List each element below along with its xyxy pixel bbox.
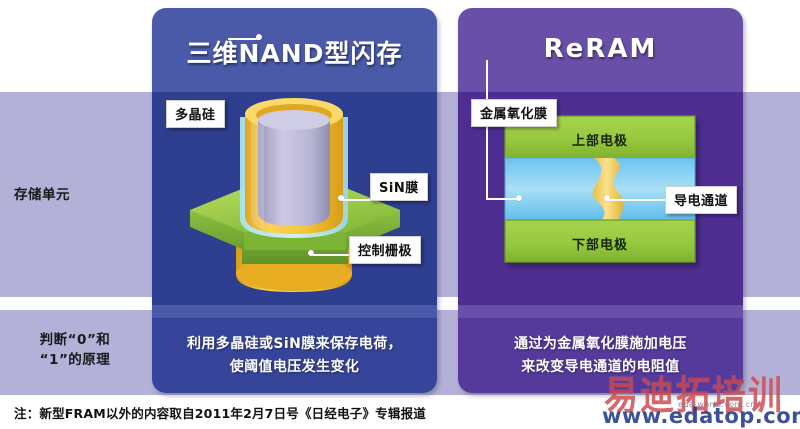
leader-dot-polysilicon <box>256 34 262 40</box>
nand-caption-line1: 利用多晶硅或SiN膜来保存电荷， <box>152 333 437 356</box>
watermark-tiny-text: eda-world.com.cn <box>678 400 756 409</box>
leader-dot-control-gate <box>308 250 314 256</box>
label-top-electrode: 上部电极 <box>505 130 695 149</box>
leader-polysilicon <box>228 38 260 40</box>
figure-footnote: 注：新型FRAM以外的内容取自2011年2月7日号《日经电子》专辑报道 <box>14 403 426 422</box>
nand-divider-strip <box>152 305 437 318</box>
panel-title-nand: 三维NAND型闪存 <box>152 34 437 70</box>
callout-conductive-filament[interactable]: 导电通道 <box>665 186 737 214</box>
row-label-logic-line2: “1”的原理 <box>8 351 142 371</box>
panel-caption-reram: 通过为金属氧化膜施加电压 来改变导电通道的电阻值 <box>458 333 743 379</box>
leader-dot-sin <box>338 195 344 201</box>
figure-canvas: 存储单元 判断“0”和 “1”的原理 三维NAND型闪存 <box>0 0 800 429</box>
callout-metal-oxide-film[interactable]: 金属氧化膜 <box>471 99 557 127</box>
panel-title-reram: ReRAM <box>458 34 743 64</box>
panel-caption-nand: 利用多晶硅或SiN膜来保存电荷， 使阈值电压发生变化 <box>152 333 437 379</box>
callout-control-gate[interactable]: 控制栅极 <box>349 236 421 264</box>
nand-caption-line2: 使阈值电压发生变化 <box>152 356 437 379</box>
row-label-memory-cell: 存储单元 <box>14 186 144 206</box>
leader-metal-oxide-horizontal <box>486 198 520 200</box>
leader-dot-filament <box>604 195 610 201</box>
callout-polysilicon[interactable]: 多晶硅 <box>166 100 225 128</box>
reram-caption-line1: 通过为金属氧化膜施加电压 <box>458 333 743 356</box>
row-label-logic: 判断“0”和 “1”的原理 <box>8 331 142 370</box>
callout-sin-film[interactable]: SiN膜 <box>370 173 428 201</box>
reram-divider-strip <box>458 305 743 318</box>
reram-caption-line2: 来改变导电通道的电阻值 <box>458 356 743 379</box>
row-label-logic-line1: 判断“0”和 <box>8 331 142 351</box>
watermark-url: www.edatop.com <box>602 404 800 428</box>
leader-dot-metal-oxide <box>516 195 522 201</box>
leader-metal-oxide-vertical <box>486 60 488 200</box>
label-bottom-electrode: 下部电极 <box>505 234 695 253</box>
